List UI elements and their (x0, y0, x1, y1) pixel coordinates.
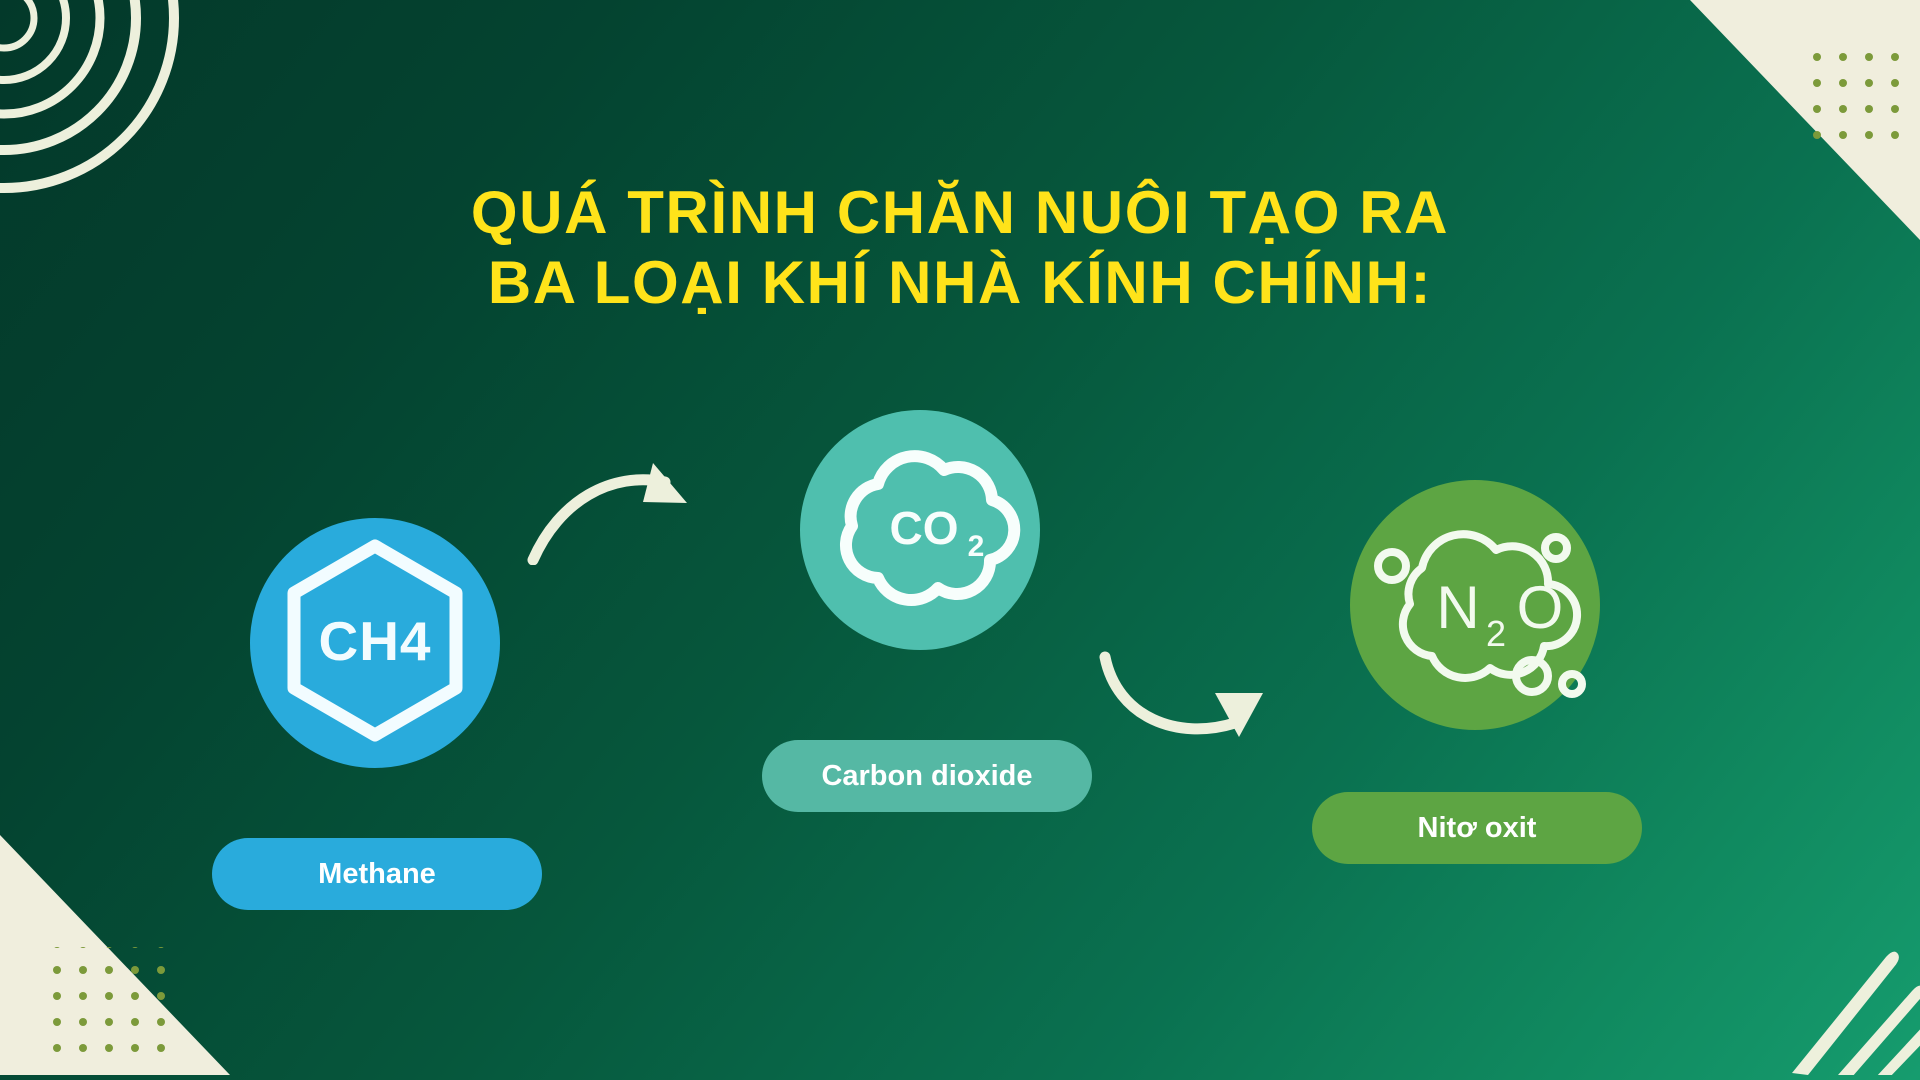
nito-oxit-label-text: Nitơ oxit (1418, 812, 1537, 845)
slide-canvas: QUÁ TRÌNH CHĂN NUÔI TẠO RA BA LOẠI KHÍ N… (0, 0, 1920, 1080)
ch4-icon-circle: CH4 (250, 518, 500, 768)
gas-node-co2[interactable]: CO 2 (800, 410, 1040, 650)
pill-label-carbon-dioxide[interactable]: Carbon dioxide (762, 740, 1092, 812)
gas-node-n2o[interactable]: N 2 O (1350, 480, 1600, 730)
cloud-icon: CO 2 (800, 410, 1040, 650)
pill-label-nito-oxit[interactable]: Nitơ oxit (1312, 792, 1642, 864)
carbon-dioxide-label-text: Carbon dioxide (821, 760, 1032, 793)
cloud-bubbles-icon: N 2 O (1350, 480, 1600, 730)
n2o-icon-circle: N 2 O (1350, 480, 1600, 730)
svg-text:O: O (1517, 574, 1564, 641)
gas-node-ch4[interactable]: CH4 (250, 518, 500, 768)
svg-text:CH4: CH4 (318, 610, 431, 672)
title-line-1: QUÁ TRÌNH CHĂN NUÔI TẠO RA (0, 178, 1920, 248)
co2-icon-circle: CO 2 (800, 410, 1040, 650)
svg-text:2: 2 (1486, 613, 1506, 654)
page-title: QUÁ TRÌNH CHĂN NUÔI TẠO RA BA LOẠI KHÍ N… (0, 178, 1920, 317)
title-line-2: BA LOẠI KHÍ NHÀ KÍNH CHÍNH: (0, 248, 1920, 318)
svg-text:N: N (1436, 574, 1479, 641)
pill-label-methane[interactable]: Methane (212, 838, 542, 910)
svg-text:2: 2 (968, 530, 985, 563)
svg-text:CO: CO (890, 502, 959, 554)
hexagon-molecule-icon: CH4 (250, 518, 500, 768)
arrow-ch4-to-co2 (525, 455, 715, 570)
arrow-co2-to-n2o (1095, 645, 1285, 760)
brush-strokes-decoration-bottom-right (1680, 895, 1920, 1080)
methane-label-text: Methane (318, 858, 436, 891)
